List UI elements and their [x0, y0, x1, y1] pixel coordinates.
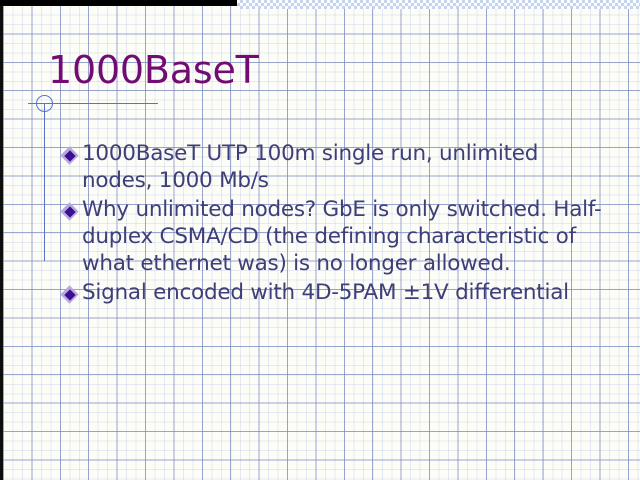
bullet-text: 1000BaseT UTP 100m single run, unlimited…: [82, 140, 602, 194]
bullet-text: Signal encoded with 4D-5PAM ±1V differen…: [82, 279, 602, 306]
top-dither-strip-artifact: [237, 0, 640, 9]
bullet-item: Why unlimited nodes? GbE is only switche…: [62, 196, 602, 277]
title-vertical-rule: [44, 103, 45, 261]
slide-canvas: 1000BaseT 1000BaseT UTP 100m single run,…: [0, 0, 640, 480]
slide-title: 1000BaseT: [48, 48, 608, 92]
slide-body: 1000BaseT UTP 100m single run, unlimited…: [62, 140, 602, 312]
bullet-item: Signal encoded with 4D-5PAM ±1V differen…: [62, 279, 602, 310]
diamond-bullet-icon: [62, 196, 82, 227]
diamond-bullet-icon: [62, 140, 82, 171]
title-block: 1000BaseT: [48, 48, 608, 92]
compass-circle-icon: [36, 95, 53, 112]
left-edge-artifact: [0, 0, 3, 480]
diamond-bullet-icon: [62, 279, 82, 310]
top-black-bar-artifact: [0, 0, 237, 6]
bullet-text: Why unlimited nodes? GbE is only switche…: [82, 196, 602, 277]
bullet-item: 1000BaseT UTP 100m single run, unlimited…: [62, 140, 602, 194]
